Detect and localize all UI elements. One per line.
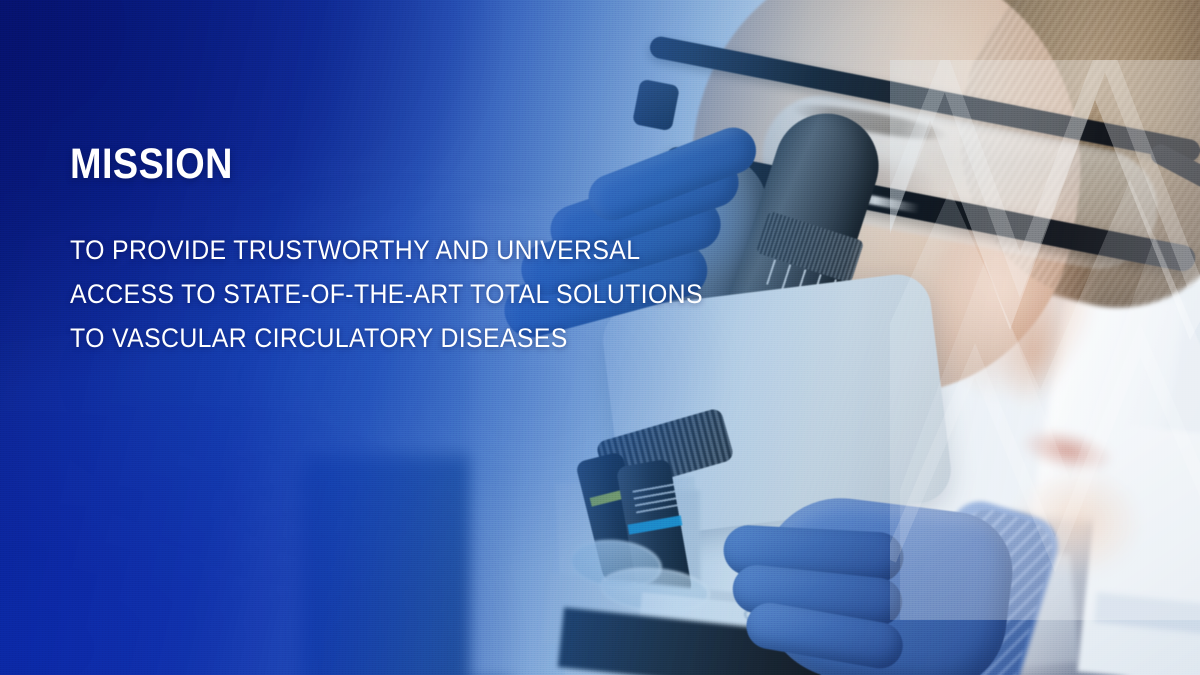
- mission-statement-line-2: ACCESS TO STATE-OF-THE-ART TOTAL SOLUTIO…: [70, 272, 659, 316]
- mission-statement-line-1: TO PROVIDE TRUSTWORTHY AND UNIVERSAL: [70, 228, 659, 272]
- mission-statement-line-3: TO VASCULAR CIRCULATORY DISEASES: [70, 316, 659, 360]
- mission-text-block: MISSION TO PROVIDE TRUSTWORTHY AND UNIVE…: [70, 143, 710, 360]
- mission-statement: TO PROVIDE TRUSTWORTHY AND UNIVERSAL ACC…: [70, 228, 710, 360]
- page-title: MISSION: [70, 143, 633, 186]
- mission-banner: MISSION TO PROVIDE TRUSTWORTHY AND UNIVE…: [0, 0, 1200, 675]
